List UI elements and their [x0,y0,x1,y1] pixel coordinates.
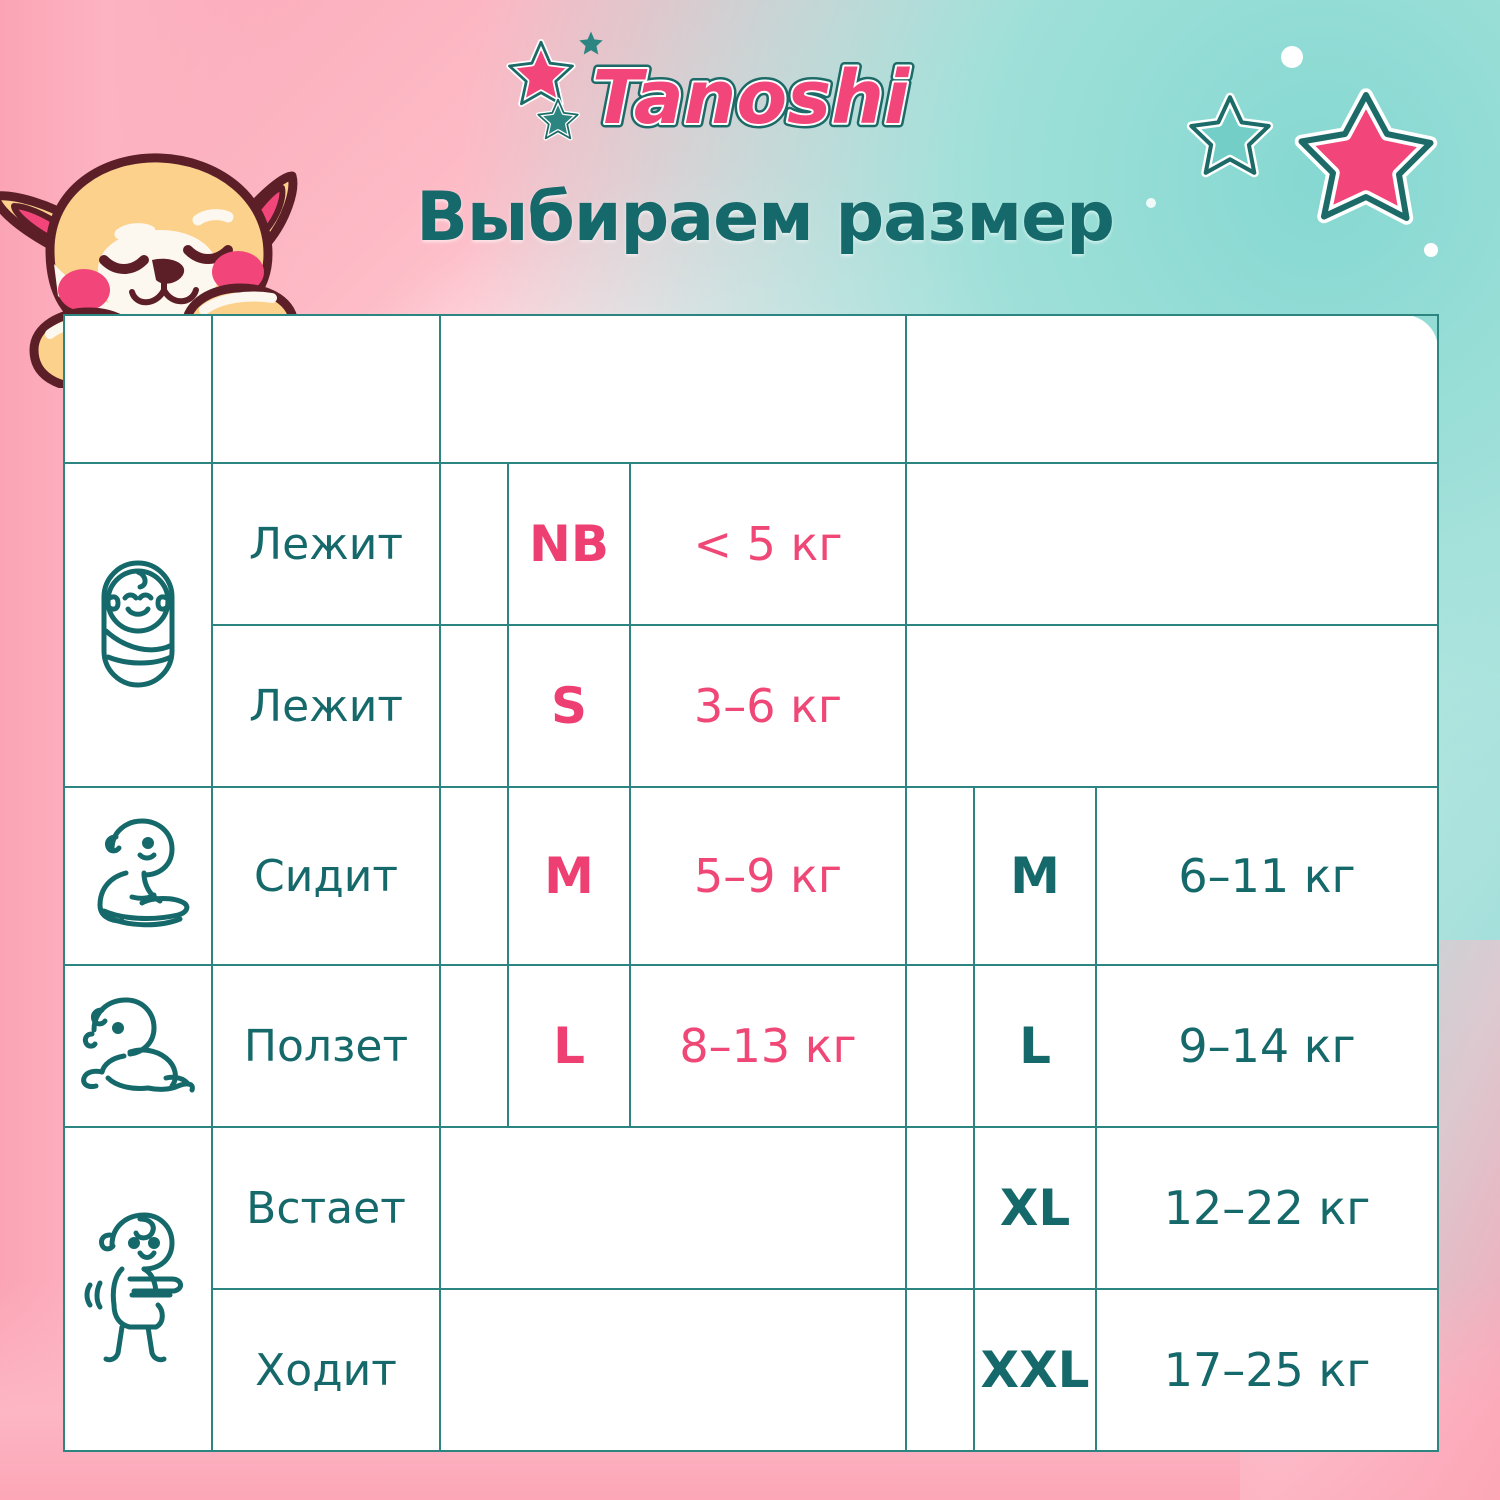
stage-label: Лежит [212,463,440,625]
stage-label: Ходит [212,1289,440,1451]
pants-size: L [974,965,1096,1127]
sitting-baby-icon [82,815,194,933]
table-row: Ходит 6 XXL 17–25 кг [64,1289,1438,1451]
pants-number: 3 [906,787,974,965]
stage-label: Встает [212,1127,440,1289]
header-diapers: Подгузники [440,315,906,463]
swaddled-baby-icon-cell [64,463,212,787]
diaper-number: 2 [440,625,508,787]
header-spacer-stage [212,315,440,463]
sitting-baby-icon-cell [64,787,212,965]
table-row: Ползет 4 L 8–13 кг 4 L 9–14 кг [64,965,1438,1127]
standing-baby-icon-cell [64,1127,212,1451]
pants-number: 6 [906,1289,974,1451]
pants-number: 5 [906,1127,974,1289]
stage-label: Ползет [212,965,440,1127]
standing-baby-icon [78,1207,198,1367]
dot-white-1 [1281,46,1303,68]
pants-number: 4 [906,965,974,1127]
pants-weight: 9–14 кг [1096,965,1438,1127]
size-table-container: Подгузники Трусики [63,314,1437,1431]
stage-label: Сидит [212,787,440,965]
crawling-baby-icon [78,990,198,1098]
brand-logo: Tanoshi Tanoshi Tanoshi [497,45,967,145]
table-header-row: Подгузники Трусики [64,315,1438,463]
diaper-number: 3 [440,787,508,965]
pants-weight: 6–11 кг [1096,787,1438,965]
logo-text: Tanoshi [592,55,911,141]
table-row: Сидит 3 M 5–9 кг 3 M 6–11 кг [64,787,1438,965]
page-title: Выбираем размер [330,178,1200,257]
diaper-weight: 8–13 кг [630,965,906,1127]
pants-empty [906,625,1438,787]
crawling-baby-icon-cell [64,965,212,1127]
pants-size: M [974,787,1096,965]
swaddled-baby-icon [92,553,184,693]
dot-white-2 [1424,243,1438,257]
size-table: Подгузники Трусики [63,314,1439,1452]
diaper-number: 1 [440,463,508,625]
stage-label: Лежит [212,625,440,787]
table-row: Лежит 1 NB < 5 кг [64,463,1438,625]
diaper-size: S [508,625,630,787]
pants-size: XXL [974,1289,1096,1451]
diaper-number: 4 [440,965,508,1127]
header-pants: Трусики [906,315,1438,463]
table-row: Встает 5 XL 12–22 кг [64,1127,1438,1289]
header-spacer-icon [64,315,212,463]
diaper-size: NB [508,463,630,625]
diaper-empty [440,1289,906,1451]
diaper-weight: < 5 кг [630,463,906,625]
pants-empty [906,463,1438,625]
pants-weight: 12–22 кг [1096,1127,1438,1289]
star-teal-outline [1185,90,1275,180]
logo-wordmark: Tanoshi Tanoshi Tanoshi [497,45,967,150]
star-pink-large [1288,80,1438,230]
diaper-size: L [508,965,630,1127]
diaper-empty [440,1127,906,1289]
pants-weight: 17–25 кг [1096,1289,1438,1451]
diaper-weight: 5–9 кг [630,787,906,965]
diaper-size: M [508,787,630,965]
table-row: Лежит 2 S 3–6 кг [64,625,1438,787]
diaper-weight: 3–6 кг [630,625,906,787]
pants-size: XL [974,1127,1096,1289]
